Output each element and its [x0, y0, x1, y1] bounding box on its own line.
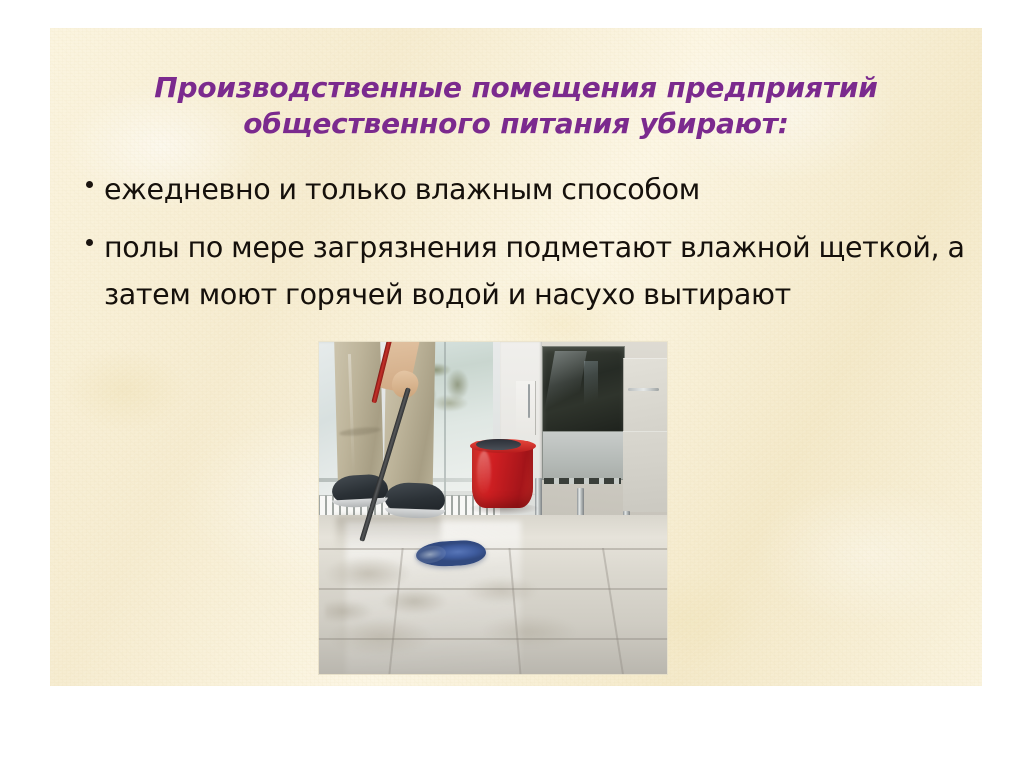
bullet-list: ежедневно и только влажным способом полы…	[74, 166, 974, 329]
bullet-text-2: полы по мере загрязнения подметают влажн…	[104, 224, 974, 318]
photo-oven-base-panel	[542, 431, 625, 480]
photo-tile-grout-line	[318, 588, 668, 590]
slide-title: Производственные помещения предприятий о…	[110, 70, 922, 142]
title-line-1: Производственные помещения предприятий	[110, 70, 922, 106]
photo-cabinet-door	[516, 381, 536, 434]
photo-drawer-lower	[623, 431, 669, 512]
list-item: полы по мере загрязнения подметают влажн…	[74, 224, 974, 318]
photo-drawer-upper	[623, 358, 669, 432]
photo-glass-seam	[444, 341, 446, 495]
list-item: ежедневно и только влажным способом	[74, 166, 974, 213]
presentation-slide: Производственные помещения предприятий о…	[50, 28, 982, 686]
photo-drawer-handle	[628, 388, 660, 391]
photo-cabinet-handle	[528, 384, 530, 417]
photo-oven-glare-2	[584, 361, 598, 414]
photo-tile-grout-line	[318, 548, 668, 550]
bullet-point-icon	[74, 224, 104, 246]
mopping-kitchen-floor-photo	[318, 341, 668, 675]
photo-bucket-interior	[476, 439, 522, 450]
bullet-text-1: ежедневно и только влажным способом	[104, 166, 974, 213]
slide-stage: Производственные помещения предприятий о…	[0, 0, 1024, 767]
bullet-point-icon	[74, 166, 104, 188]
photo-person-trouser-left	[333, 341, 383, 489]
title-line-2: общественного питания убирают:	[110, 106, 922, 142]
photo-oven-vent	[544, 478, 621, 484]
